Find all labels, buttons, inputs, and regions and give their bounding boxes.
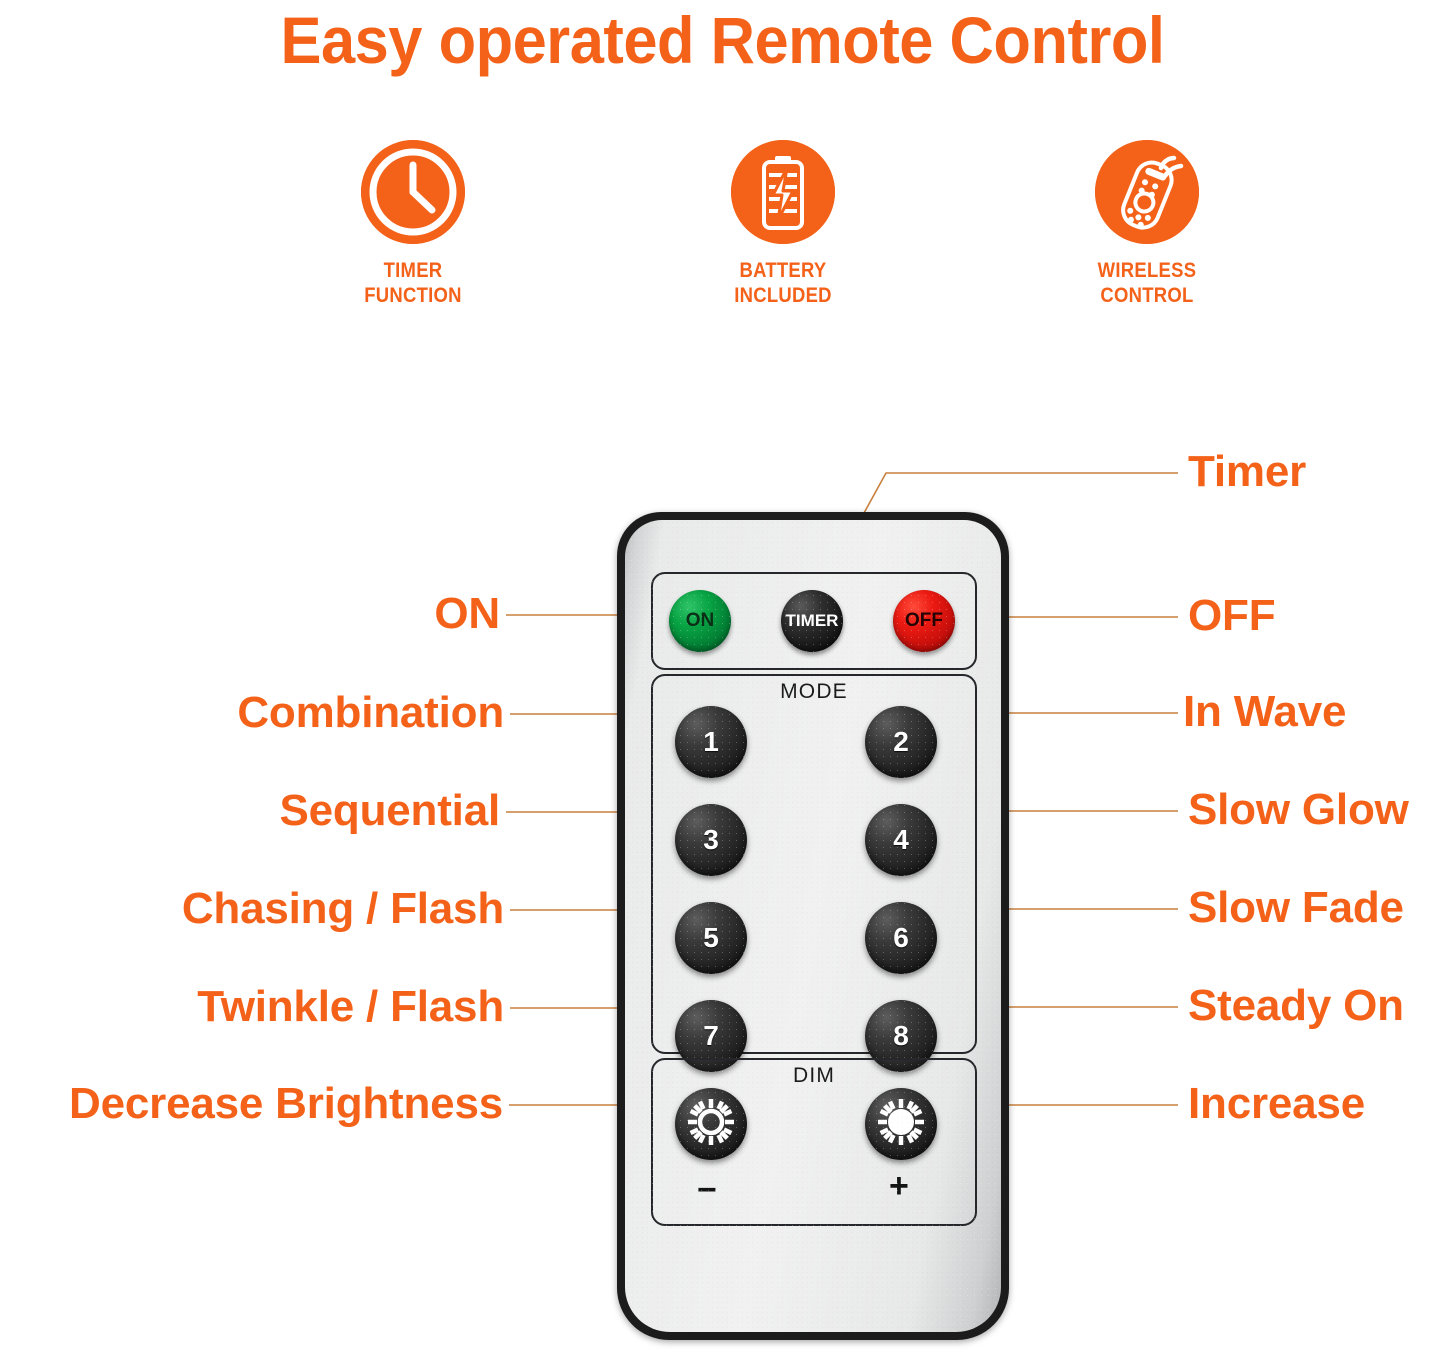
mode-button-2-label: 2 [893, 726, 909, 758]
feature-battery-line1: BATTERY [739, 259, 826, 282]
feature-wireless-control: WIRELESS CONTROL [1032, 140, 1262, 308]
dim-minus-symbol: − [697, 1173, 717, 1207]
dim-plus-symbol: + [889, 1169, 909, 1203]
remote-faceplate: ON TIMER OFF MODE 1 2 3 4 [625, 520, 1001, 1332]
mode-button-3-label: 3 [703, 824, 719, 856]
remote-control-device: ON TIMER OFF MODE 1 2 3 4 [617, 512, 1009, 1340]
mode-button-7-label: 7 [703, 1020, 719, 1052]
callout-slow-fade: Slow Fade [1188, 886, 1404, 930]
on-button[interactable]: ON [669, 590, 731, 652]
mode-button-1[interactable]: 1 [675, 706, 747, 778]
mode-button-6-label: 6 [893, 922, 909, 954]
feature-wireless-line2: CONTROL [1100, 284, 1193, 307]
battery-icon [731, 140, 835, 244]
sun-hollow-icon [685, 1096, 737, 1153]
clock-icon [361, 140, 465, 244]
callout-decrease-brightness: Decrease Brightness [6, 1082, 503, 1126]
callout-timer: Timer [1188, 450, 1306, 494]
timer-button[interactable]: TIMER [781, 590, 843, 652]
feature-timer-label: TIMER FUNCTION [312, 258, 514, 308]
feature-timer-line2: FUNCTION [364, 284, 462, 307]
feature-battery-label: BATTERY INCLUDED [682, 258, 884, 308]
callout-chasing-flash: Chasing / Flash [56, 887, 504, 931]
mode-button-6[interactable]: 6 [865, 902, 937, 974]
power-button-group: ON TIMER OFF [651, 572, 977, 670]
feature-battery-included: BATTERY INCLUDED [668, 140, 898, 308]
mode-button-1-label: 1 [703, 726, 719, 758]
callout-on: ON [56, 592, 500, 636]
sun-solid-icon [875, 1096, 927, 1153]
mode-button-group: MODE 1 2 3 4 5 6 7 8 [651, 674, 977, 1054]
feature-wireless-line1: WIRELESS [1098, 259, 1197, 282]
mode-button-5[interactable]: 5 [675, 902, 747, 974]
feature-battery-line2: INCLUDED [734, 284, 832, 307]
remote-signal-icon [1095, 140, 1199, 244]
dim-group-label: DIM [653, 1064, 975, 1088]
dim-decrease-button[interactable] [675, 1088, 747, 1160]
callout-steady-on: Steady On [1188, 984, 1404, 1028]
page-title: Easy operated Remote Control [51, 2, 1395, 78]
dim-button-group: DIM [651, 1058, 977, 1226]
mode-group-label: MODE [653, 680, 975, 704]
callout-twinkle-flash: Twinkle / Flash [56, 985, 504, 1029]
dim-increase-button[interactable] [865, 1088, 937, 1160]
mode-button-2[interactable]: 2 [865, 706, 937, 778]
on-button-label: ON [686, 610, 715, 632]
mode-button-3[interactable]: 3 [675, 804, 747, 876]
mode-button-4-label: 4 [893, 824, 909, 856]
mode-button-8-label: 8 [893, 1020, 909, 1052]
callout-combination: Combination [56, 691, 504, 735]
timer-button-label: TIMER [786, 611, 839, 631]
feature-timer-function: TIMER FUNCTION [298, 140, 528, 308]
feature-timer-line1: TIMER [384, 259, 443, 282]
callout-increase: Increase [1188, 1082, 1365, 1126]
off-button-label: OFF [905, 610, 943, 632]
callout-slow-glow: Slow Glow [1188, 788, 1409, 832]
mode-button-5-label: 5 [703, 922, 719, 954]
off-button[interactable]: OFF [893, 590, 955, 652]
callout-sequential: Sequential [56, 789, 500, 833]
callout-off: OFF [1188, 594, 1275, 638]
feature-wireless-label: WIRELESS CONTROL [1046, 258, 1248, 308]
callout-in-wave: In Wave [1183, 690, 1346, 734]
mode-button-4[interactable]: 4 [865, 804, 937, 876]
